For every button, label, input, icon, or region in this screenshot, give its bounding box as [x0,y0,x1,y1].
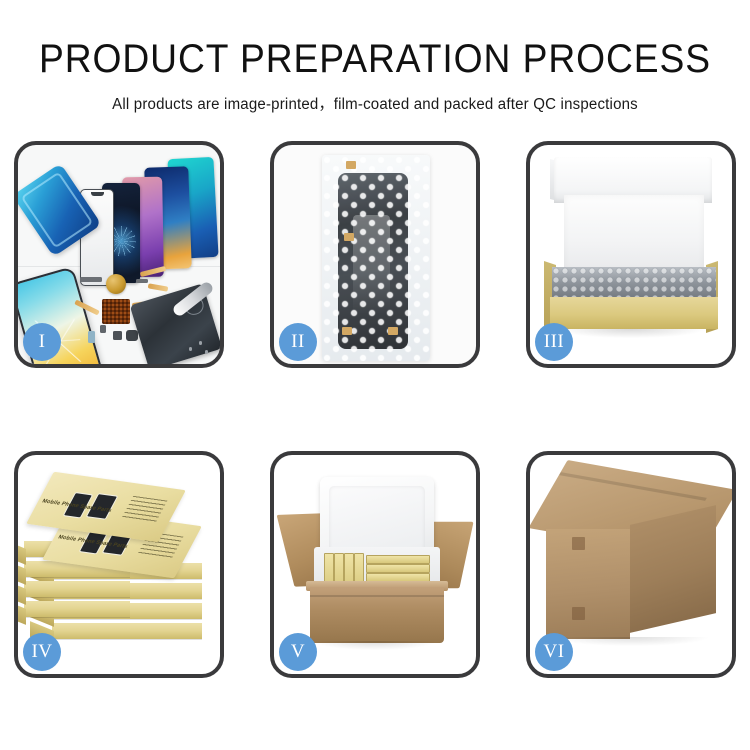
tape-piece-icon [344,233,354,241]
tape-piece-icon [346,161,356,169]
tape-patch-icon [572,537,585,550]
step-number-badge: III [535,323,573,361]
camera-module-icon [113,331,122,340]
speaker-mesh-icon [106,274,126,294]
battery-cell-icon [88,331,95,343]
carton-body-icon [310,587,444,643]
top-box-back: Mobile Phone Spare Parts [26,472,186,543]
box-front-panel-icon [550,297,718,329]
process-step-4[interactable]: Mobile Phone Spare Parts Mobile Phone Sp… [14,451,224,678]
step-number-badge: VI [535,633,573,671]
process-step-3[interactable]: III [526,141,736,368]
drop-shadow [314,641,436,650]
spec-lines-icon [122,496,168,523]
process-step-5[interactable]: V [270,451,480,678]
tape-patch-icon [572,607,585,620]
process-step-2[interactable]: II [270,141,480,368]
stacked-box [24,581,130,597]
page-title: PRODUCT PREPARATION PROCESS [26,0,724,80]
process-step-grid: I II [14,141,736,678]
screw-icon [199,341,203,345]
small-chip-icon [136,279,148,283]
drop-shadow [558,329,704,338]
connector-grid-icon [102,299,130,324]
page-subtitle: All products are image-printed，film-coat… [11,80,739,114]
bubble-wrap-tray-icon [552,267,716,301]
stacked-box [52,623,202,639]
tape-piece-icon [388,327,398,335]
process-step-6[interactable]: VI [526,451,736,678]
step-number-badge: I [23,323,61,361]
bubble-wrap-bag-icon [322,155,430,361]
white-foam-sheet-icon [564,195,704,271]
stacked-box [24,601,130,617]
packed-box [366,555,430,564]
bubble-texture-icon [322,155,430,361]
page-header: PRODUCT PREPARATION PROCESS All products… [0,0,750,114]
earpiece-chip-icon [80,277,102,282]
product-preparation-page: PRODUCT PREPARATION PROCESS All products… [0,0,750,750]
step-number-badge: V [279,633,317,671]
drop-shadow [554,637,708,646]
tape-piece-icon [342,327,352,335]
screw-icon [189,347,193,351]
carton-left-face-icon [546,529,630,639]
bubble-texture-icon [552,267,716,301]
vibrator-icon [126,330,138,341]
step-number-badge: IV [23,633,61,671]
process-step-1[interactable]: I [14,141,224,368]
step-number-badge: II [279,323,317,361]
flex-cable-icon [148,283,169,291]
screw-post-icon [100,325,106,333]
notch-icon [91,192,104,196]
screw-icon [205,350,209,354]
packed-box [366,564,430,573]
carton-right-face-icon [630,505,716,633]
